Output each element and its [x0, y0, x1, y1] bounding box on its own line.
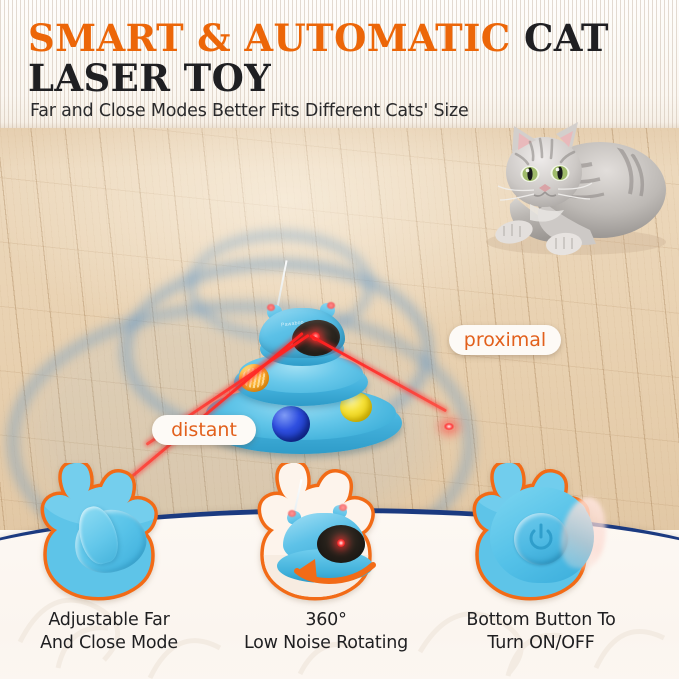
title-accent-text: SMART & AUTOMATIC [28, 16, 511, 60]
laser-hit-proximal [443, 422, 455, 431]
page-title: SMART & AUTOMATIC CAT LASER TOY [28, 18, 628, 98]
ear-tip-right [327, 302, 335, 309]
cat-laser-toy: Pawaboo [196, 294, 406, 474]
ear-tip-left [267, 304, 275, 311]
mini-antenna-icon [293, 479, 302, 513]
feature-caption-3-line1: Bottom Button To [438, 609, 644, 632]
feature-adjustable-mode[interactable]: Adjustable Far And Close Mode [34, 463, 184, 605]
product-infographic: SMART & AUTOMATIC CAT LASER TOY Far and … [0, 0, 679, 679]
feature-caption-2-line2: Low Noise Rotating [223, 632, 429, 655]
mini-device [277, 491, 377, 585]
title-dark-text: CAT [524, 16, 609, 60]
feature-power-button[interactable]: Bottom Button To Turn ON/OFF [466, 463, 616, 605]
toy-ball-blue [272, 406, 310, 442]
feature-caption-2-line1: 360° [223, 609, 429, 632]
power-button-icon [528, 523, 554, 553]
callout-proximal: proximal [449, 325, 561, 355]
feature-icon-1 [34, 463, 184, 605]
callout-distant: distant [152, 415, 256, 445]
mini-ear-tip-left [288, 510, 296, 517]
cat-photo [468, 120, 679, 258]
rotation-arrow-icon [285, 553, 379, 587]
title-line-1: SMART & AUTOMATIC CAT [28, 18, 628, 58]
feature-caption-2: 360° Low Noise Rotating [223, 609, 429, 655]
feature-caption-3: Bottom Button To Turn ON/OFF [438, 609, 644, 655]
feature-icon-3 [466, 463, 616, 605]
feature-caption-3-line2: Turn ON/OFF [438, 632, 644, 655]
laser-emitter-head: Pawaboo [259, 300, 345, 360]
subtitle: Far and Close Modes Better Fits Differen… [30, 101, 469, 121]
title-line-2: LASER TOY [28, 58, 628, 98]
feature-caption-1-line1: Adjustable Far [6, 609, 212, 632]
feature-rotating[interactable]: 360° Low Noise Rotating [251, 463, 401, 605]
feature-caption-1-line2: And Close Mode [6, 632, 212, 655]
mini-ear-tip-right [339, 504, 347, 511]
feature-icon-2 [251, 463, 401, 605]
mini-laser-dot [337, 539, 345, 547]
feature-caption-1: Adjustable Far And Close Mode [6, 609, 212, 655]
